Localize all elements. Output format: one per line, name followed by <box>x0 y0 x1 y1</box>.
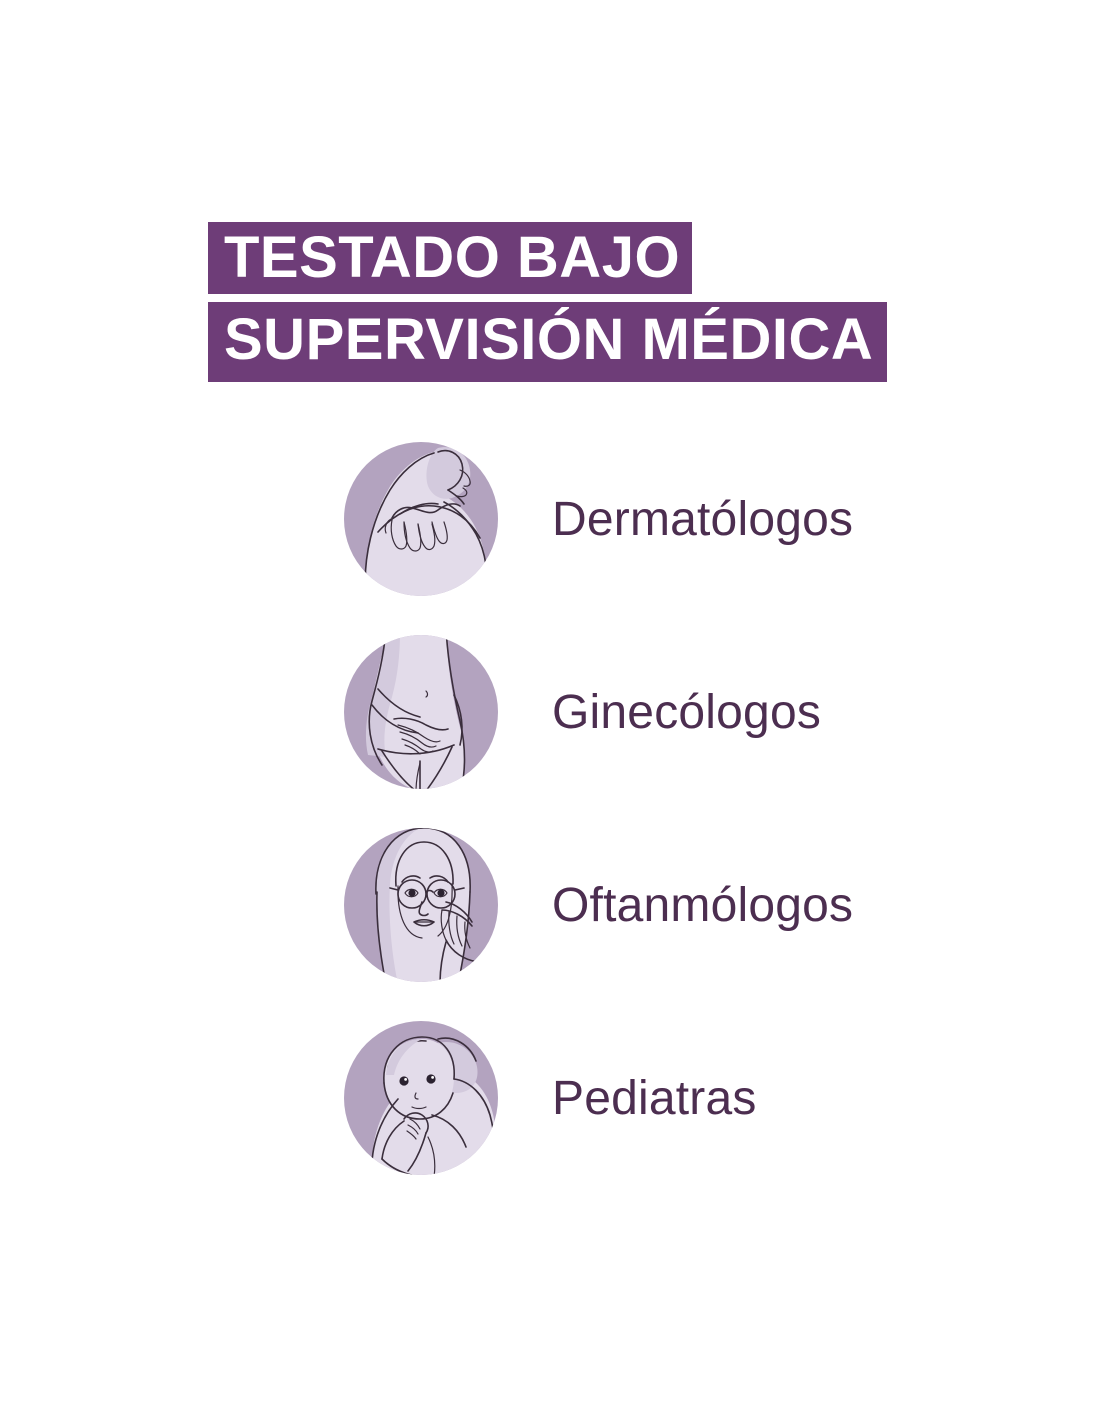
list-item: Dermatólogos <box>0 440 1100 633</box>
specialist-list: Dermatólogos <box>0 440 1100 1212</box>
dermatology-back-shoulder-icon <box>342 440 500 598</box>
title-line-2: SUPERVISIÓN MÉDICA <box>208 302 887 382</box>
list-item-label: Ginecólogos <box>552 633 821 791</box>
title-banner: TESTADO BAJO SUPERVISIÓN MÉDICA <box>208 222 908 382</box>
pediatrics-baby-icon <box>342 1019 500 1177</box>
list-item: Oftanmólogos <box>0 826 1100 1019</box>
list-item: Pediatras <box>0 1019 1100 1212</box>
ophthalmology-face-glasses-icon <box>342 826 500 984</box>
list-item-label: Pediatras <box>552 1019 757 1177</box>
title-line-1: TESTADO BAJO <box>208 222 692 294</box>
gynecology-abdomen-icon <box>342 633 500 791</box>
list-item-label: Oftanmólogos <box>552 826 853 984</box>
list-item-label: Dermatólogos <box>552 440 853 598</box>
list-item: Ginecólogos <box>0 633 1100 826</box>
